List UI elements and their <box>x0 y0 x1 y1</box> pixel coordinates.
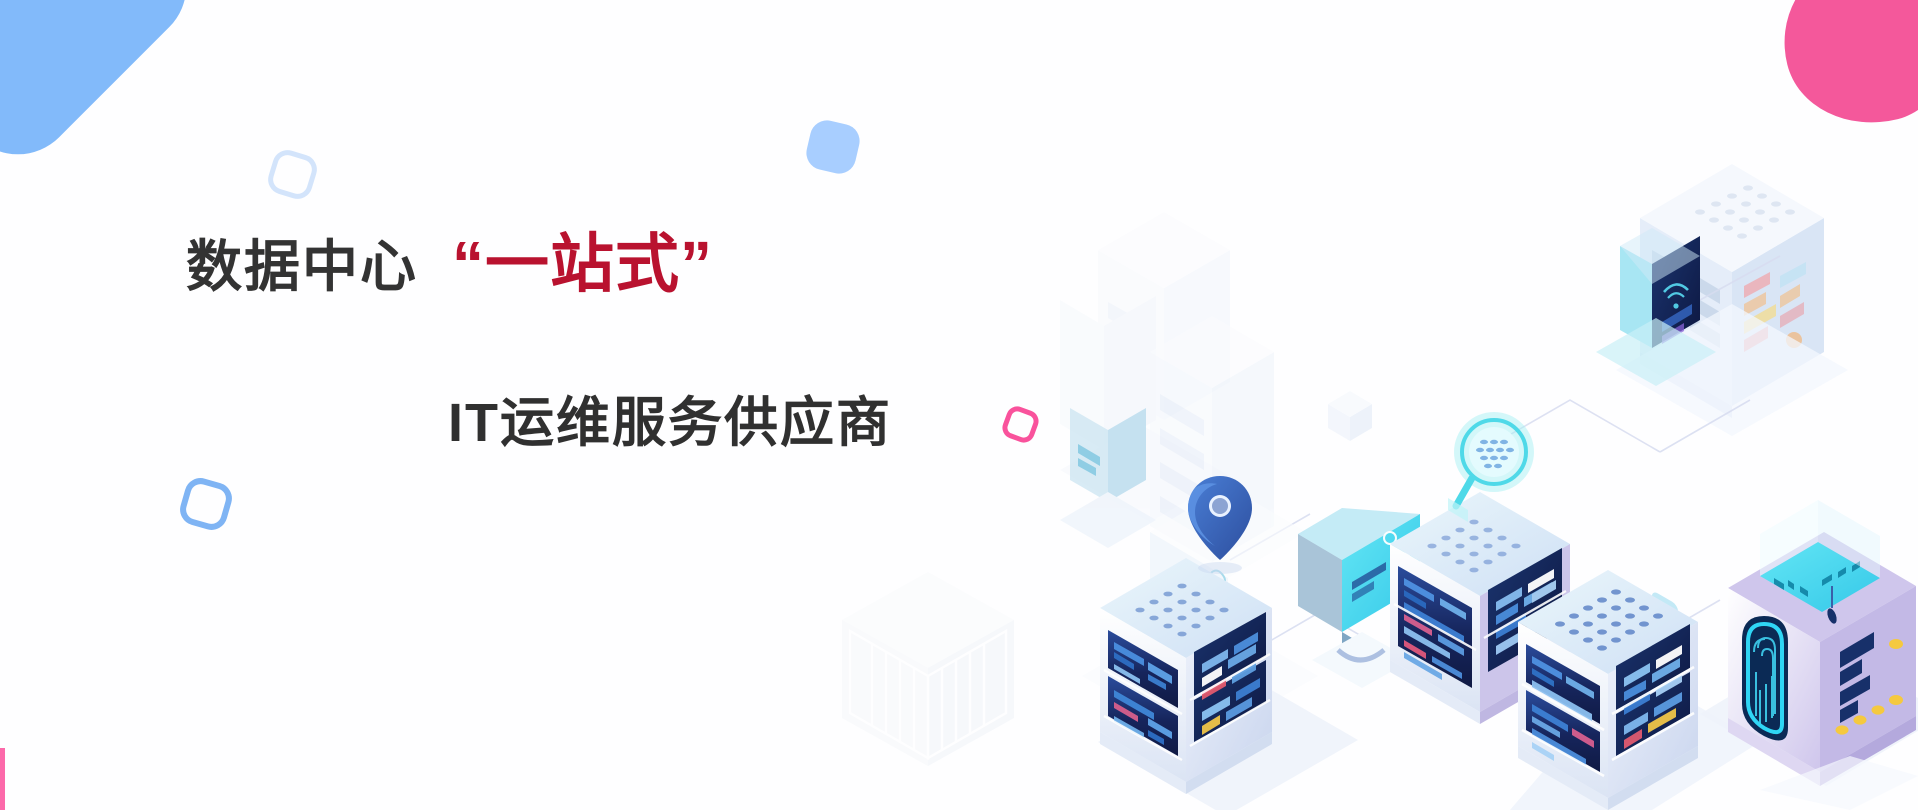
headline-red-text: “一站式” <box>452 232 713 296</box>
ghost-node-cube <box>1328 391 1372 441</box>
watermark-cube-icon <box>838 568 1018 768</box>
corner-blue-shape <box>0 0 210 178</box>
edge-pink-bar <box>0 748 5 810</box>
accent-ring-blue <box>176 474 235 533</box>
accent-dot-blue <box>803 117 863 177</box>
headline-line-one: 数据中心 “一站式” <box>186 232 1056 296</box>
headline-block: 数据中心 “一站式” IT运维服务供应商 <box>186 232 1056 450</box>
subheadline-text: IT运维服务供应商 <box>448 396 1056 450</box>
headline-dark-text: 数据中心 <box>186 239 418 295</box>
isometric-data-center-illustration <box>1060 0 1918 810</box>
hero-banner: 数据中心 “一站式” IT运维服务供应商 <box>0 0 1918 810</box>
server-rack-right <box>1510 570 1760 810</box>
accent-ring-light-blue <box>264 146 320 202</box>
fingerprint-panel <box>1742 616 1788 741</box>
